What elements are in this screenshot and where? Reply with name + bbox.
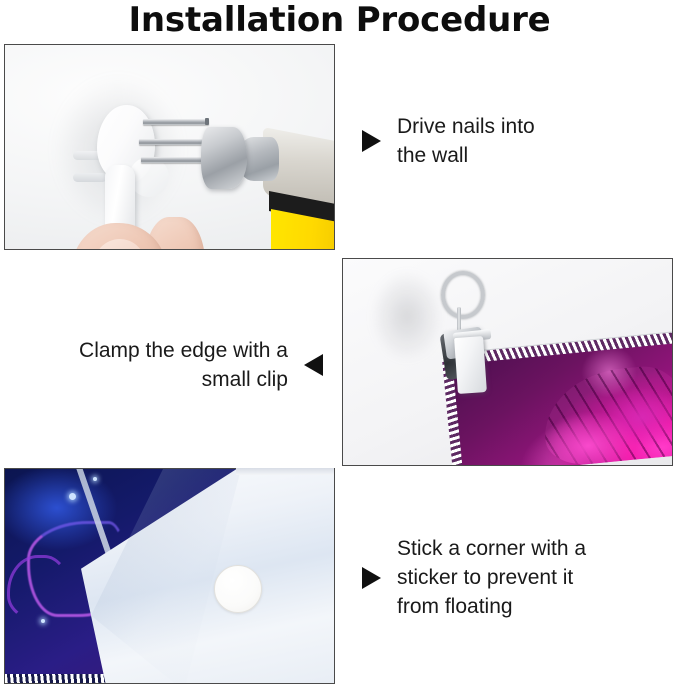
tapestry-filament-2 <box>7 555 69 623</box>
hook-lip-lower <box>73 173 107 182</box>
tapestry-star-1 <box>69 493 76 500</box>
step-3-caption: Stick a corner with a sticker to prevent… <box>362 534 662 621</box>
step-1-caption-text: Drive nails into the wall <box>397 112 535 170</box>
clip-wall-shadow <box>371 271 443 361</box>
hook-nails-hammer-photo <box>5 45 334 249</box>
tapestry-star-3 <box>41 619 45 623</box>
step-2-caption: Clamp the edge with a small clip <box>18 336 323 394</box>
clip-plate <box>454 336 487 394</box>
wall-hook-tab <box>129 157 169 197</box>
wall-top-strip <box>236 468 334 475</box>
installation-procedure-page: Installation Procedure <box>0 0 679 684</box>
nail-middle <box>139 139 209 145</box>
step-1-photo <box>4 44 335 250</box>
step-1-caption: Drive nails into the wall <box>362 112 662 170</box>
nail-top-head <box>205 118 209 125</box>
adhesive-sticker <box>214 565 262 613</box>
folded-corner-sticker-photo <box>5 469 334 683</box>
page-title: Installation Procedure <box>0 0 679 40</box>
hammer-head <box>201 127 247 189</box>
nail-top <box>143 119 209 125</box>
step-3-photo <box>4 468 335 684</box>
step-2-caption-text: Clamp the edge with a small clip <box>79 336 288 394</box>
triangle-left-icon <box>304 354 323 376</box>
tapestry-star-2 <box>93 477 97 481</box>
step-2-photo <box>342 258 673 466</box>
clip-hanging-ring <box>441 271 485 319</box>
clip-tapestry-photo <box>343 259 672 465</box>
triangle-right-icon <box>362 130 381 152</box>
step-3-caption-text: Stick a corner with a sticker to prevent… <box>397 534 586 621</box>
nail-bottom <box>141 157 209 163</box>
tapestry-wing-pattern <box>539 363 673 466</box>
triangle-right-icon <box>362 567 381 589</box>
